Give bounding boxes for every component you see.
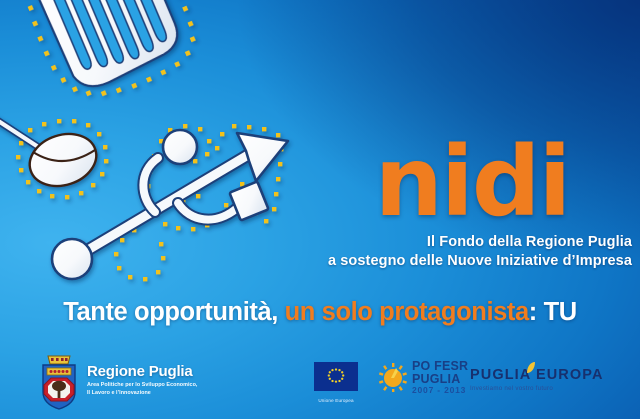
regione-puglia-sub-line1: Area Politiche per lo Sviluppo Economico… <box>87 382 197 390</box>
tagline: Tante opportunità, un solo protagonista:… <box>0 298 640 327</box>
footer-logos: Regione Puglia Area Politiche per lo Svi… <box>0 348 640 419</box>
tagline-part2: : TU <box>529 298 577 326</box>
brand-wordmark: nidi <box>352 140 592 224</box>
fesr-line2: PUGLIA <box>412 373 468 386</box>
po-fesr-puglia-logo: PO FESR PUGLIA 2007 - 2013 <box>378 360 468 395</box>
brand-subtitle-line1: Il Fondo della Regione Puglia <box>232 233 632 252</box>
regione-puglia-sub-line2: Il Lavoro e l’Innovazione <box>87 390 197 398</box>
fesr-line1: PO FESR <box>412 360 468 373</box>
fesr-text: PO FESR PUGLIA 2007 - 2013 <box>412 360 468 395</box>
ladle-icon <box>0 113 108 199</box>
fesr-sun-icon <box>378 362 408 392</box>
comb-icon <box>9 0 208 115</box>
regione-puglia-logo: Regione Puglia Area Politiche per lo Svi… <box>38 352 197 410</box>
eu-caption: Unione Europea <box>314 398 358 403</box>
tagline-part1: Tante opportunità, <box>63 298 278 326</box>
european-union-logo: Unione Europea <box>314 362 358 403</box>
regione-puglia-subtitle: Area Politiche per lo Sviluppo Economico… <box>87 382 197 397</box>
puglia-europa-logo: PUGLIA EUROPA Investiamo nel vostro futu… <box>470 368 604 392</box>
puglia-europa-title: PUGLIA EUROPA <box>470 368 604 383</box>
puglia-europa-leaf-icon <box>526 362 536 374</box>
fesr-years: 2007 - 2013 <box>412 386 468 395</box>
regione-puglia-title: Regione Puglia <box>87 364 197 380</box>
regione-puglia-emblem-icon <box>38 352 80 410</box>
regione-puglia-text: Regione Puglia Area Politiche per lo Svi… <box>87 364 197 397</box>
nidi-poster: nidi Il Fondo della Regione Puglia a sos… <box>0 0 640 419</box>
brand-subtitle: Il Fondo della Regione Puglia a sostegno… <box>232 233 632 270</box>
tagline-highlight: un solo protagonista <box>278 298 529 326</box>
puglia-europa-slogan: Investiamo nel vostro futuro <box>470 385 604 392</box>
eu-flag-icon <box>314 362 358 391</box>
brand-subtitle-line2: a sostegno delle Nuove Iniziative d’Impr… <box>232 252 632 271</box>
